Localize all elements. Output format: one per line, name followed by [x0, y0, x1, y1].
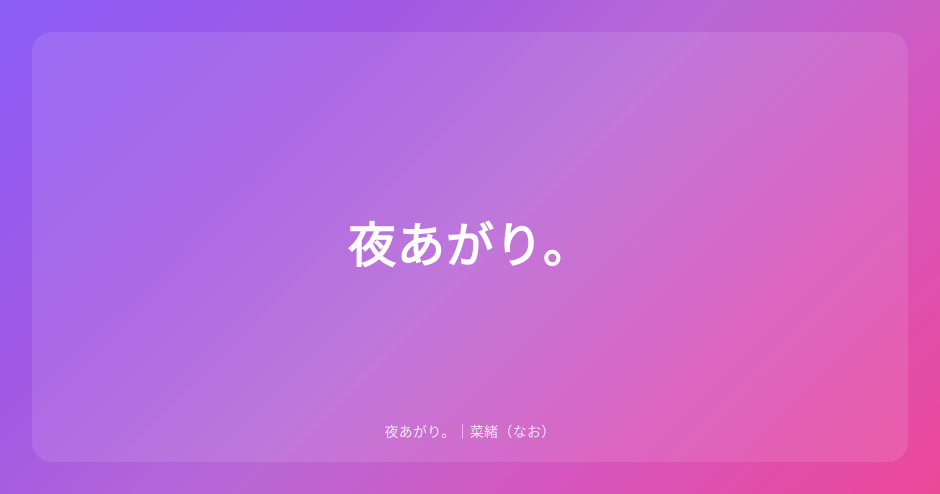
- page-title: 夜あがり。: [348, 219, 592, 274]
- gradient-canvas: 夜あがり。 夜あがり。｜菜緒（なお）: [0, 0, 940, 494]
- title-container: 夜あがり。: [32, 32, 908, 462]
- title-card: 夜あがり。 夜あがり。｜菜緒（なお）: [32, 32, 908, 462]
- footer-credit: 夜あがり。｜菜緒（なお）: [32, 423, 908, 443]
- footer-credit-text: 夜あがり。｜菜緒（なお）: [384, 423, 555, 443]
